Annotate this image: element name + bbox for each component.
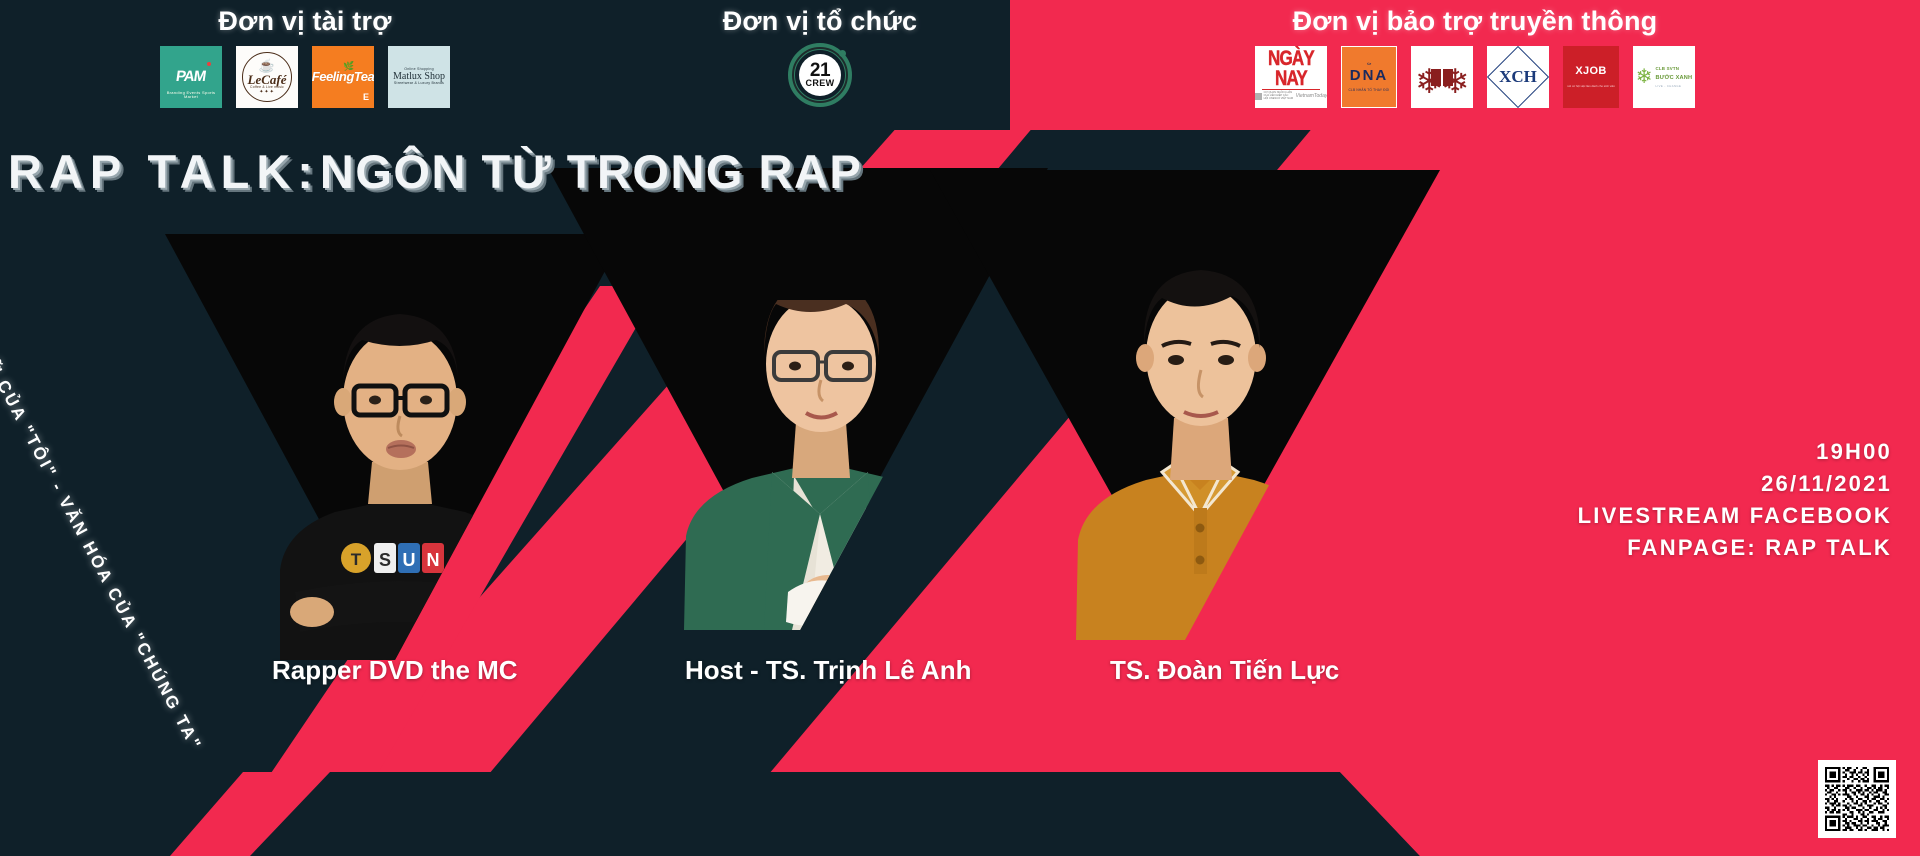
qr-code-image — [1825, 767, 1889, 831]
organizer-logo-21-crew[interactable]: 21 CREW — [788, 43, 852, 107]
buoc-xanh-text: CLB SVTN BƯỚC XANH LIVE - CHANGE — [1656, 64, 1693, 90]
media-sponsors-block: Đơn vị bảo trợ truyền thông NGÀY NAY CƠ … — [1030, 0, 1920, 140]
media-logo-row: NGÀY NAY CƠ QUAN NGÔN LUẬN CỦA LIÊN HIỆP… — [1255, 46, 1695, 108]
sponsor-logo-matlux-shop[interactable]: Online Shopping Matlux Shop Streetwear &… — [388, 46, 450, 108]
svg-text:N: N — [427, 550, 440, 570]
event-channel: LIVESTREAM FACEBOOK — [1578, 500, 1892, 532]
xch-wordmark: XCH — [1499, 68, 1537, 86]
media-sponsors-title: Đơn vị bảo trợ truyền thông — [1293, 6, 1658, 37]
media-logo-buoc-xanh[interactable]: ❄ CLB SVTN BƯỚC XANH LIVE - CHANGE — [1633, 46, 1695, 108]
media-logo-ngay-nay[interactable]: NGÀY NAY CƠ QUAN NGÔN LUẬN CỦA LIÊN HIỆP… — [1255, 46, 1327, 108]
green-leaf-icon: ❄ — [1636, 67, 1653, 87]
portrait-rapper: T S U N — [250, 240, 550, 660]
coffee-cup-icon: ☕ — [259, 59, 275, 72]
event-details: 19H00 26/11/2021 LIVESTREAM FACEBOOK FAN… — [1578, 436, 1892, 564]
sponsors-title: Đơn vị tài trợ — [218, 6, 391, 37]
ngay-nay-fineprint: CƠ QUAN NGÔN LUẬN CỦA LIÊN HIỆP CÁC HỘI … — [1264, 92, 1294, 101]
speaker-name-1: Rapper DVD the MC — [272, 655, 518, 686]
title-part-2: NGÔN TỪ TRONG RAP — [320, 148, 862, 195]
qr-code[interactable] — [1818, 760, 1896, 838]
poster-header: Đơn vị tài trợ PAM Branding Events Sport… — [0, 0, 1920, 140]
organizer-title: Đơn vị tổ chức — [723, 6, 918, 37]
sponsor-logo-feeling-tea[interactable]: FeelingTea 🌿 E — [312, 46, 374, 108]
speaker-photo-3 — [1050, 240, 1350, 640]
nhan-to-wordmark: DNA — [1349, 68, 1390, 83]
sponsors-logo-row: PAM Branding Events Sports Market ☕ LeCa… — [160, 46, 450, 108]
event-fanpage: FANPAGE: RAP TALK — [1578, 532, 1892, 564]
crew-number: 21 — [810, 62, 830, 79]
media-logo-nhan-to-thay-doi[interactable]: ⚰ DNA CLB NHÂN TỐ THAY ĐỔI — [1341, 46, 1397, 108]
xjob-wordmark: XJOB — [1567, 66, 1615, 78]
buoc-xanh-line3: LIVE - CHANGE — [1656, 84, 1682, 88]
nhan-to-caption: CLB NHÂN TỐ THAY ĐỔI — [1349, 89, 1390, 92]
pam-media-dot — [207, 62, 211, 66]
buoc-xanh-lockup: ❄ CLB SVTN BƯỚC XANH LIVE - CHANGE — [1636, 64, 1692, 90]
lecafe-stars-icon: ✦✦✦ — [259, 90, 275, 95]
sponsor-logo-pam-media[interactable]: PAM Branding Events Sports Market — [160, 46, 222, 108]
speaker-photo-1: T S U N — [250, 240, 550, 660]
title-part-1: RAP TALK: — [8, 148, 320, 195]
ngay-nay-footer: CƠ QUAN NGÔN LUẬN CỦA LIÊN HIỆP CÁC HỘI … — [1255, 92, 1327, 101]
portrait-host — [660, 300, 980, 630]
buoc-xanh-line2: BƯỚC XANH — [1656, 75, 1693, 81]
unesco-seal-icon — [1255, 93, 1262, 100]
media-logo-laurel-club[interactable]: ❄ ❄ — [1411, 46, 1473, 108]
xch-diamond: XCH — [1487, 46, 1549, 108]
media-logo-xch[interactable]: XCH — [1487, 46, 1549, 108]
poster-title: RAP TALK: NGÔN TỪ TRONG RAP — [8, 148, 862, 195]
pam-media-tagline: Branding Events Sports Market — [160, 91, 222, 99]
ngay-nay-wordmark: NGÀY NAY — [1255, 49, 1327, 89]
svg-text:S: S — [379, 550, 391, 570]
laurel-wreath-icon: ❄ ❄ — [1414, 53, 1470, 101]
feeling-tea-wordmark: FeelingTea — [312, 70, 374, 84]
crew-center: 21 CREW — [799, 54, 841, 96]
svg-text:U: U — [403, 550, 416, 570]
event-time: 19H00 — [1578, 436, 1892, 468]
event-poster: T S U N — [0, 0, 1920, 856]
feeling-tea-initial: E — [363, 93, 369, 102]
media-logo-xjob[interactable]: XJOB nơi cơ hội việc làm dành cho sinh v… — [1563, 46, 1619, 108]
crew-word: CREW — [805, 79, 834, 88]
organizer-block: Đơn vị tổ chức 21 CREW — [610, 0, 1030, 140]
leaf-icon: 🌿 — [343, 62, 354, 71]
event-date: 26/11/2021 — [1578, 468, 1892, 500]
open-book-icon — [1431, 69, 1453, 86]
pam-media-wordmark: PAM — [175, 69, 206, 85]
speaker-name-2: Host - TS. Trịnh Lê Anh — [685, 655, 971, 686]
xjob-tagline: nơi cơ hội việc làm dành cho sinh viên — [1567, 85, 1615, 88]
matlux-tagline: Streetwear & Luxury Brands — [393, 82, 445, 86]
crew-nub-icon — [839, 50, 846, 57]
buoc-xanh-line1: CLB SVTN — [1656, 66, 1680, 71]
sponsor-logo-lecafe[interactable]: ☕ LeCafé Coffee & Live music ✦✦✦ — [236, 46, 298, 108]
lecafe-ring: ☕ LeCafé Coffee & Live music ✦✦✦ — [242, 52, 292, 102]
speaker-name-3: TS. Đoàn Tiến Lực — [1110, 655, 1339, 686]
sponsors-block: Đơn vị tài trợ PAM Branding Events Sport… — [0, 0, 610, 140]
portrait-guest — [1050, 240, 1350, 640]
svg-text:T: T — [351, 550, 362, 569]
vietnam-today-label: VietnamToday — [1296, 94, 1327, 99]
speaker-photo-2 — [660, 300, 980, 630]
